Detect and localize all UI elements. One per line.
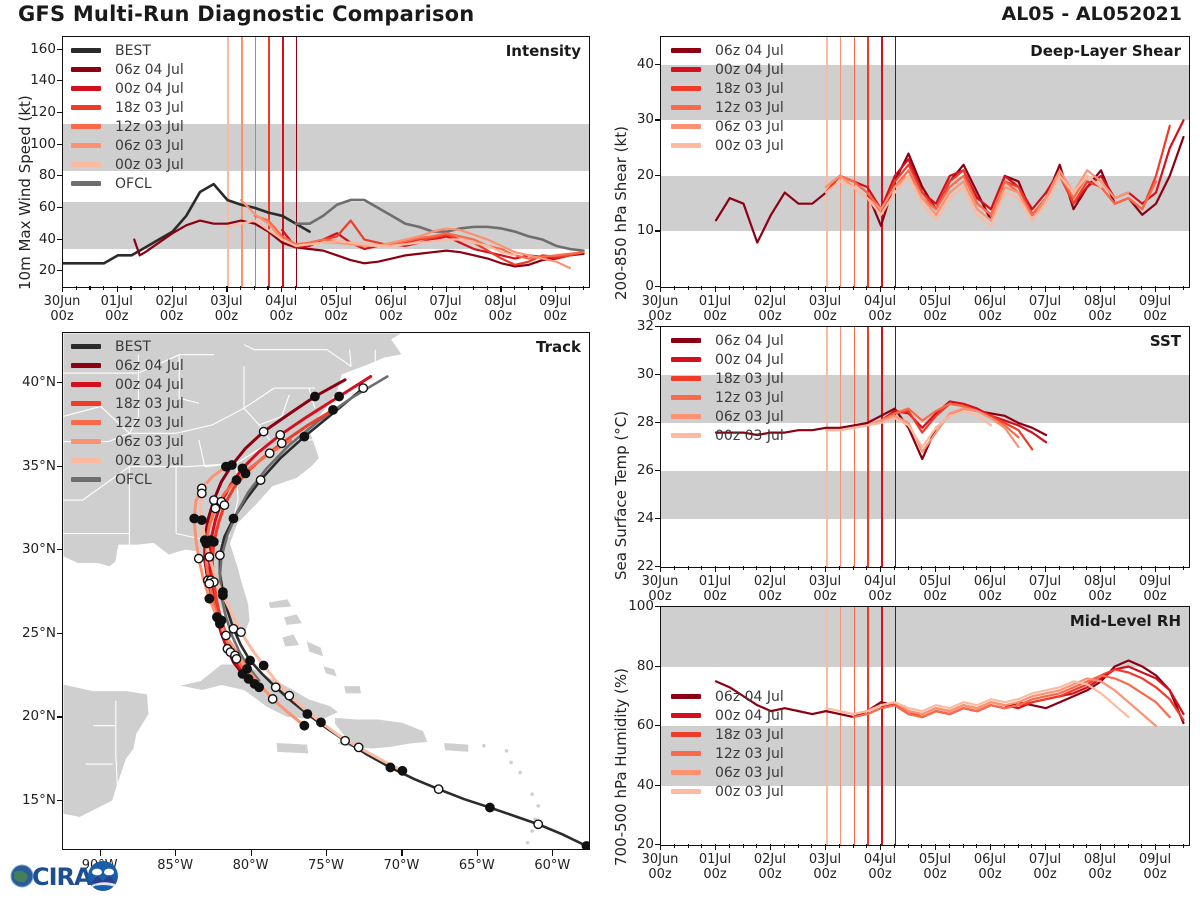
- legend-swatch: [71, 420, 101, 425]
- track-marker-filled: [259, 661, 267, 669]
- x-tick-label: 03Jul00z: [795, 852, 855, 882]
- x-tick-label: 30Jun00z: [630, 852, 690, 882]
- legend-label: 18z 03 Jul: [115, 100, 184, 116]
- legend-label: 06z 03 Jul: [715, 119, 784, 135]
- x-tick-label: 08Jul00z: [1070, 852, 1130, 882]
- lat-tick-label: 20°N: [2, 708, 56, 724]
- legend-item: 06z 04 Jul: [671, 687, 784, 706]
- legend-intensity: BEST06z 04 Jul00z 04 Jul18z 03 Jul12z 03…: [71, 41, 184, 193]
- legend-label: 00z 03 Jul: [115, 453, 184, 469]
- legend-item: OFCL: [71, 470, 184, 489]
- track-marker-open: [205, 553, 213, 561]
- legend-label: 06z 04 Jul: [715, 333, 784, 349]
- track-marker-filled: [232, 476, 240, 484]
- cira-logo: CIRA RAMMB: [6, 852, 122, 896]
- legend-item: 18z 03 Jul: [71, 98, 184, 117]
- legend-swatch: [671, 789, 701, 794]
- legend-item: 12z 03 Jul: [671, 744, 784, 763]
- y-tick-label: 26: [614, 462, 654, 478]
- legend-swatch: [71, 48, 101, 53]
- legend-swatch: [71, 105, 101, 110]
- legend-swatch: [71, 363, 101, 368]
- legend-label: 06z 03 Jul: [715, 765, 784, 781]
- legend-item: 00z 04 Jul: [671, 706, 784, 725]
- track-marker-open: [222, 631, 230, 639]
- legend-swatch: [671, 770, 701, 775]
- track-marker-open: [216, 551, 224, 559]
- lon-tick-mark: [552, 850, 553, 856]
- lon-tick-mark: [401, 850, 402, 856]
- track-marker-filled: [386, 763, 394, 771]
- x-tick-label: 06Jul00z: [960, 852, 1020, 882]
- legend-item: 06z 03 Jul: [671, 407, 784, 426]
- legend-item: BEST: [71, 337, 184, 356]
- legend-item: 00z 03 Jul: [71, 155, 184, 174]
- legend-label: BEST: [115, 43, 151, 59]
- y-tick-label: 100: [16, 136, 56, 152]
- legend-label: 12z 03 Jul: [715, 746, 784, 762]
- legend-swatch: [671, 395, 701, 400]
- legend-rh: 06z 04 Jul00z 04 Jul18z 03 Jul12z 03 Jul…: [671, 687, 784, 801]
- legend-label: 00z 03 Jul: [115, 157, 184, 173]
- x-tick-label: 02Jul00z: [142, 294, 202, 324]
- lon-tick-label: 80°W: [216, 858, 286, 873]
- legend-label: 00z 03 Jul: [715, 428, 784, 444]
- series-line: [282, 230, 583, 258]
- legend-item: 06z 03 Jul: [671, 117, 784, 136]
- track-marker-filled: [300, 432, 308, 440]
- x-tick-label: 08Jul00z: [470, 294, 530, 324]
- plot-area-sst: SST 06z 04 Jul00z 04 Jul18z 03 Jul12z 03…: [660, 326, 1190, 568]
- legend-item: 06z 04 Jul: [671, 41, 784, 60]
- legend-label: 06z 04 Jul: [115, 358, 184, 374]
- legend-label: 18z 03 Jul: [715, 81, 784, 97]
- y-tick-label: 24: [614, 510, 654, 526]
- track-marker-open: [220, 501, 228, 509]
- track-marker-filled: [255, 683, 263, 691]
- y-tick-label: 100: [614, 598, 654, 614]
- y-tick-label: 80: [614, 658, 654, 674]
- lon-tick-mark: [326, 850, 327, 856]
- track-marker-filled: [317, 718, 325, 726]
- legend-label: 00z 03 Jul: [715, 784, 784, 800]
- svg-text:CIRA: CIRA: [32, 863, 93, 891]
- legend-item: 18z 03 Jul: [671, 369, 784, 388]
- track-marker-filled: [229, 514, 237, 522]
- track-marker-filled: [205, 594, 213, 602]
- y-tick-label: 32: [614, 318, 654, 334]
- x-tick-label: 01Jul00z: [685, 852, 745, 882]
- legend-item: 00z 04 Jul: [71, 375, 184, 394]
- legend-item: 06z 04 Jul: [71, 356, 184, 375]
- y-tick-label: 120: [16, 104, 56, 120]
- legend-item: 18z 03 Jul: [671, 725, 784, 744]
- legend-item: 06z 04 Jul: [671, 331, 784, 350]
- legend-label: 00z 03 Jul: [715, 138, 784, 154]
- figure-root: GFS Multi-Run Diagnostic Comparison AL05…: [0, 0, 1200, 900]
- legend-swatch: [671, 338, 701, 343]
- plot-area-shear: Deep-Layer Shear 06z 04 Jul00z 04 Jul18z…: [660, 36, 1190, 288]
- legend-item: 18z 03 Jul: [71, 394, 184, 413]
- legend-item: 00z 03 Jul: [71, 451, 184, 470]
- panel-rh: 700-500 hPa Humidity (%) 20406080100 Mid…: [600, 598, 1200, 898]
- legend-swatch: [71, 439, 101, 444]
- track-line: [220, 388, 587, 846]
- svg-text:RAMMB: RAMMB: [95, 885, 112, 891]
- track-marker-open: [232, 655, 240, 663]
- y-tick-label: 0: [614, 278, 654, 294]
- legend-swatch: [71, 344, 101, 349]
- track-marker-open: [205, 579, 213, 587]
- legend-swatch: [671, 105, 701, 110]
- legend-swatch: [71, 477, 101, 482]
- panel-title-track: Track: [536, 338, 581, 356]
- track-marker-open: [341, 737, 349, 745]
- track-marker-open: [256, 476, 264, 484]
- legend-swatch: [71, 162, 101, 167]
- legend-item: 06z 03 Jul: [71, 432, 184, 451]
- y-tick-label: 140: [16, 72, 56, 88]
- lon-tick-mark: [251, 850, 252, 856]
- lat-tick-label: 30°N: [2, 541, 56, 557]
- panel-shear: 200-850 hPa Shear (kt) 010203040 Deep-La…: [600, 28, 1200, 328]
- legend-label: 00z 04 Jul: [715, 352, 784, 368]
- y-tick-label: 20: [16, 262, 56, 278]
- legend-swatch: [71, 86, 101, 91]
- y-tick-label: 80: [16, 167, 56, 183]
- axis-label-intensity: 10m Max Wind Speed (kt): [16, 95, 34, 290]
- track-marker-open: [237, 628, 245, 636]
- track-marker-open: [259, 427, 267, 435]
- x-tick-label: 02Jul00z: [740, 852, 800, 882]
- track-marker-open: [265, 449, 273, 457]
- track-marker-filled: [300, 721, 308, 729]
- y-tick-label: 28: [614, 414, 654, 430]
- lon-tick-label: 65°W: [442, 858, 512, 873]
- lat-tick-label: 35°N: [2, 458, 56, 474]
- track-marker-filled: [303, 710, 311, 718]
- y-tick-label: 30: [614, 366, 654, 382]
- y-tick-label: 30: [614, 111, 654, 127]
- x-tick-label: 06Jul00z: [361, 294, 421, 324]
- track-marker-filled: [329, 406, 337, 414]
- track-marker-filled: [246, 656, 254, 664]
- legend-label: 00z 04 Jul: [715, 62, 784, 78]
- x-tick-label: 04Jul00z: [251, 294, 311, 324]
- series-line: [840, 678, 1156, 726]
- panel-title-shear: Deep-Layer Shear: [1030, 42, 1181, 60]
- legend-label: 00z 04 Jul: [115, 377, 184, 393]
- lat-tick-label: 40°N: [2, 374, 56, 390]
- legend-shear: 06z 04 Jul00z 04 Jul18z 03 Jul12z 03 Jul…: [671, 41, 784, 155]
- legend-item: 06z 04 Jul: [71, 60, 184, 79]
- panel-title-rh: Mid-Level RH: [1070, 612, 1181, 630]
- plot-area-rh: Mid-Level RH 06z 04 Jul00z 04 Jul18z 03 …: [660, 606, 1190, 846]
- legend-swatch: [671, 48, 701, 53]
- series-line: [716, 137, 1184, 243]
- x-tick-label: 30Jun00z: [32, 294, 92, 324]
- legend-label: 18z 03 Jul: [715, 371, 784, 387]
- plot-area-intensity: Intensity BEST06z 04 Jul00z 04 Jul18z 03…: [62, 36, 590, 288]
- track-marker-open: [268, 695, 276, 703]
- legend-item: 00z 04 Jul: [671, 350, 784, 369]
- lat-tick-label: 15°N: [2, 792, 56, 808]
- y-tick-label: 10: [614, 222, 654, 238]
- legend-swatch: [71, 124, 101, 129]
- legend-swatch: [71, 181, 101, 186]
- lat-tick-label: 25°N: [2, 625, 56, 641]
- track-marker-filled: [198, 516, 206, 524]
- y-tick-label: 20: [614, 167, 654, 183]
- legend-label: BEST: [115, 339, 151, 355]
- legend-swatch: [671, 143, 701, 148]
- x-tick-label: 05Jul00z: [306, 294, 366, 324]
- track-marker-filled: [398, 767, 406, 775]
- legend-swatch: [671, 694, 701, 699]
- track-marker-filled: [202, 539, 210, 547]
- legend-label: 06z 04 Jul: [115, 62, 184, 78]
- track-marker-filled: [216, 620, 224, 628]
- track-marker-open: [198, 489, 206, 497]
- legend-label: 00z 04 Jul: [115, 81, 184, 97]
- y-tick-label: 40: [614, 56, 654, 72]
- legend-swatch: [671, 751, 701, 756]
- legend-label: 18z 03 Jul: [715, 727, 784, 743]
- series-line: [826, 120, 1184, 209]
- legend-label: OFCL: [115, 176, 152, 192]
- track-marker-open: [276, 431, 284, 439]
- panel-intensity: 10m Max Wind Speed (kt) 2040608010012014…: [0, 28, 595, 328]
- legend-label: 18z 03 Jul: [115, 396, 184, 412]
- figure-title-left: GFS Multi-Run Diagnostic Comparison: [18, 2, 474, 26]
- legend-swatch: [671, 732, 701, 737]
- legend-item: BEST: [71, 41, 184, 60]
- track-marker-open: [211, 504, 219, 512]
- legend-label: 06z 04 Jul: [715, 43, 784, 59]
- panel-title-intensity: Intensity: [506, 42, 581, 60]
- track-marker-open: [354, 743, 362, 751]
- legend-label: 12z 03 Jul: [115, 119, 184, 135]
- y-tick-label: 60: [16, 199, 56, 215]
- x-tick-label: 01Jul00z: [87, 294, 147, 324]
- legend-item: 12z 03 Jul: [71, 413, 184, 432]
- legend-swatch: [71, 401, 101, 406]
- x-tick-label: 04Jul00z: [850, 852, 910, 882]
- track-marker-filled: [486, 803, 494, 811]
- lon-tick-label: 75°W: [291, 858, 361, 873]
- legend-label: 12z 03 Jul: [115, 415, 184, 431]
- legend-swatch: [671, 86, 701, 91]
- track-marker-filled: [582, 842, 590, 850]
- track-marker-open: [434, 785, 442, 793]
- legend-item: 00z 03 Jul: [671, 782, 784, 801]
- legend-item: 12z 03 Jul: [671, 388, 784, 407]
- y-tick-label: 40: [16, 231, 56, 247]
- legend-swatch: [671, 376, 701, 381]
- legend-swatch: [71, 143, 101, 148]
- y-tick-label: 160: [16, 41, 56, 57]
- x-tick-label: 07Jul00z: [1015, 852, 1075, 882]
- track-marker-open: [195, 554, 203, 562]
- legend-item: OFCL: [71, 174, 184, 193]
- y-tick-label: 22: [614, 558, 654, 574]
- panel-track: 15°N20°N25°N30°N35°N40°N Track BEST06z 0…: [0, 330, 595, 890]
- lon-tick-mark: [175, 850, 176, 856]
- legend-item: 00z 04 Jul: [671, 60, 784, 79]
- legend-sst: 06z 04 Jul00z 04 Jul18z 03 Jul12z 03 Jul…: [671, 331, 784, 445]
- legend-swatch: [671, 713, 701, 718]
- track-marker-filled: [243, 665, 251, 673]
- plot-area-track: Track BEST06z 04 Jul00z 04 Jul18z 03 Jul…: [62, 332, 590, 850]
- legend-item: 00z 04 Jul: [71, 79, 184, 98]
- legend-item: 00z 03 Jul: [671, 426, 784, 445]
- x-tick-label: 09Jul00z: [1125, 852, 1185, 882]
- x-tick-label: 05Jul00z: [905, 852, 965, 882]
- y-tick-label: 40: [614, 777, 654, 793]
- y-tick-label: 20: [614, 836, 654, 852]
- track-marker-open: [285, 691, 293, 699]
- legend-track: BEST06z 04 Jul00z 04 Jul18z 03 Jul12z 03…: [71, 337, 184, 489]
- x-tick-label: 03Jul00z: [196, 294, 256, 324]
- track-marker-open: [272, 683, 280, 691]
- lon-tick-label: 60°W: [517, 858, 587, 873]
- track-marker-open: [359, 384, 367, 392]
- track-marker-filled: [222, 462, 230, 470]
- lon-tick-label: 70°W: [366, 858, 436, 873]
- lon-tick-mark: [477, 850, 478, 856]
- figure-title-right: AL05 - AL052021: [1002, 3, 1183, 25]
- legend-swatch: [71, 458, 101, 463]
- legend-item: 12z 03 Jul: [71, 117, 184, 136]
- series-line: [867, 401, 1046, 442]
- track-marker-filled: [335, 392, 343, 400]
- axis-label-sst: Sea Surface Temp (°C): [612, 411, 630, 580]
- legend-swatch: [671, 124, 701, 129]
- legend-swatch: [71, 67, 101, 72]
- legend-item: 18z 03 Jul: [671, 79, 784, 98]
- x-tick-label: 09Jul00z: [525, 294, 585, 324]
- track-marker-filled: [311, 392, 319, 400]
- legend-item: 12z 03 Jul: [671, 98, 784, 117]
- legend-label: 06z 03 Jul: [115, 434, 184, 450]
- legend-item: 00z 03 Jul: [671, 136, 784, 155]
- legend-swatch: [671, 67, 701, 72]
- legend-swatch: [671, 357, 701, 362]
- legend-label: 12z 03 Jul: [715, 390, 784, 406]
- track-marker-open: [278, 439, 286, 447]
- legend-item: 06z 03 Jul: [71, 136, 184, 155]
- legend-label: 06z 04 Jul: [715, 689, 784, 705]
- legend-swatch: [671, 433, 701, 438]
- track-line: [220, 376, 387, 680]
- lon-tick-label: 85°W: [140, 858, 210, 873]
- axis-label-shear: 200-850 hPa Shear (kt): [612, 126, 630, 300]
- y-tick-label: 60: [614, 717, 654, 733]
- track-marker-open: [534, 820, 542, 828]
- legend-label: OFCL: [115, 472, 152, 488]
- panel-title-sst: SST: [1150, 332, 1181, 350]
- legend-label: 00z 04 Jul: [715, 708, 784, 724]
- x-tick-label: 07Jul00z: [416, 294, 476, 324]
- legend-label: 06z 03 Jul: [715, 409, 784, 425]
- legend-item: 06z 03 Jul: [671, 763, 784, 782]
- panel-sst: Sea Surface Temp (°C) 222426283032 SST 0…: [600, 318, 1200, 608]
- track-marker-filled: [219, 591, 227, 599]
- legend-swatch: [71, 382, 101, 387]
- legend-label: 06z 03 Jul: [115, 138, 184, 154]
- track-marker-filled: [241, 469, 249, 477]
- legend-swatch: [671, 414, 701, 419]
- legend-label: 12z 03 Jul: [715, 100, 784, 116]
